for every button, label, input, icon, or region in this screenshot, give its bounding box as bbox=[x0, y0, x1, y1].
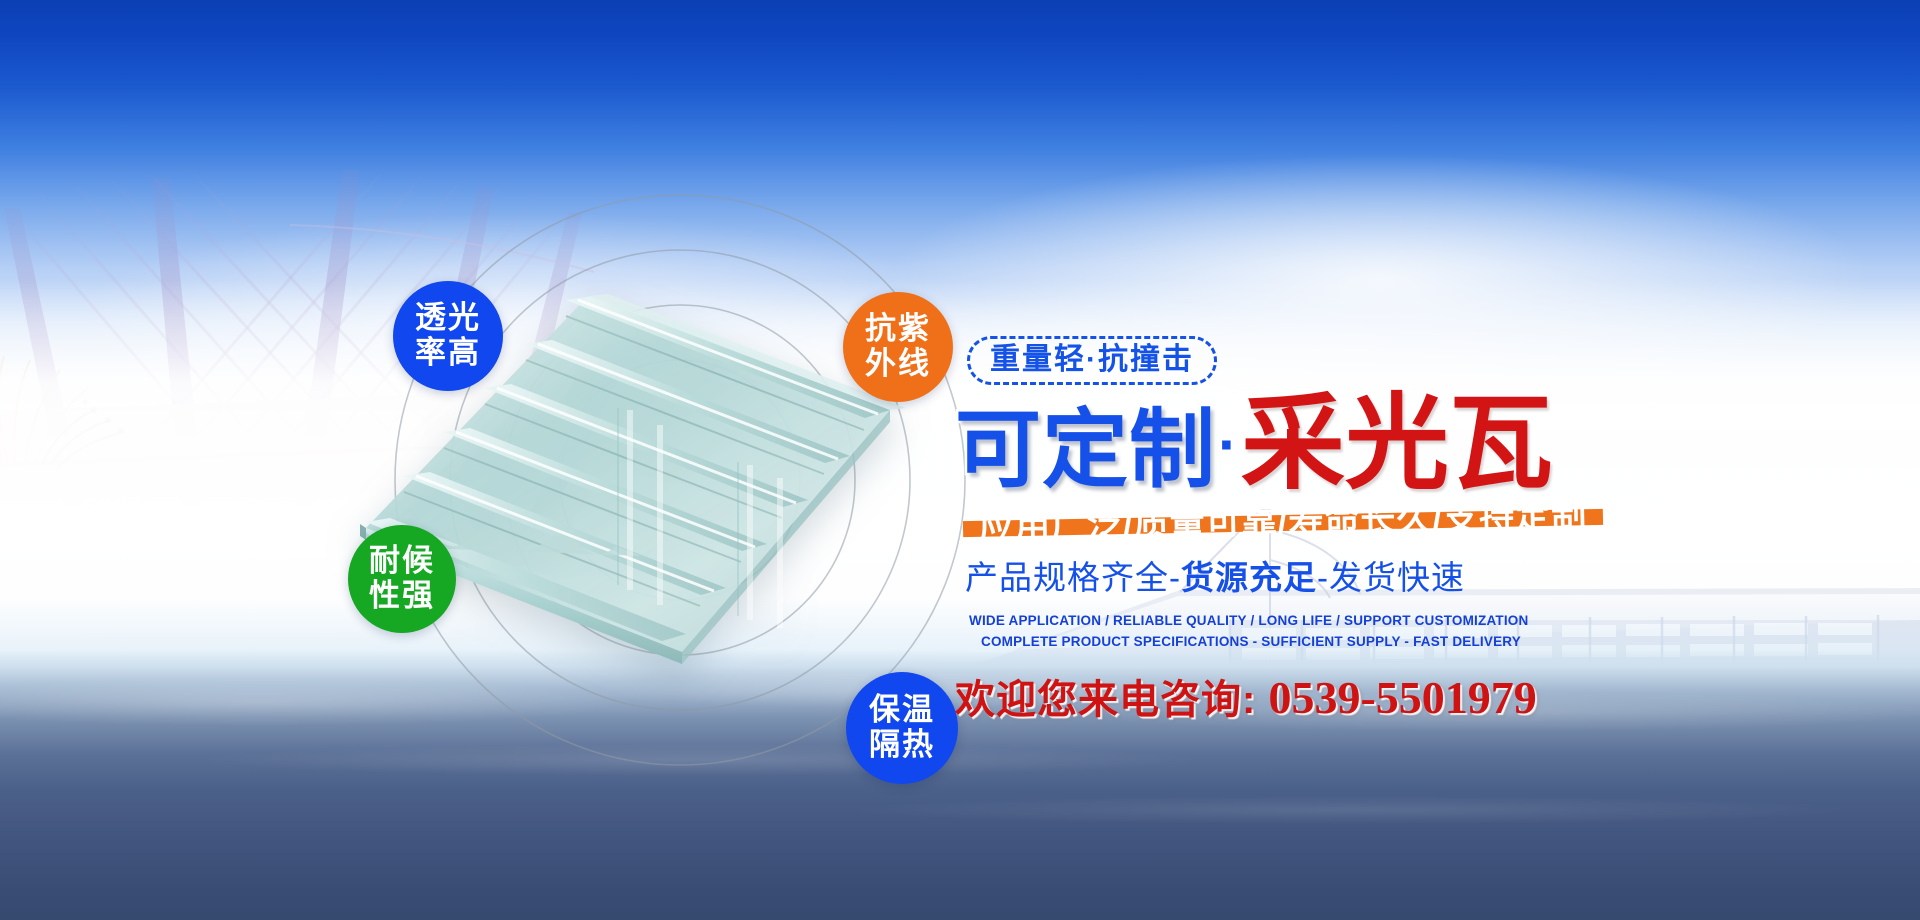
badge-weather-resistant-line2: 性强 bbox=[369, 579, 435, 614]
tagline-pill: 重量轻·抗撞击 bbox=[967, 336, 1217, 385]
feature-bar: 应用广泛/质量可靠/寿命长久/支持定制 bbox=[963, 509, 1603, 537]
page-title: 可定制·采光瓦 bbox=[955, 391, 1615, 499]
supply-subline: 产品规格齐全-货源充足-发货快速 bbox=[965, 551, 1615, 599]
badge-weather-resistant-line1: 耐候 bbox=[369, 544, 435, 579]
headline-separator-dot: · bbox=[1216, 411, 1241, 478]
badge-weather-resistant[interactable]: 耐候 性强 bbox=[348, 525, 456, 633]
badge-thermal-insulation-line2: 隔热 bbox=[869, 728, 935, 763]
badge-light-transmittance-line2: 率高 bbox=[415, 336, 481, 371]
phone-label: 欢迎您来电咨询: bbox=[955, 678, 1256, 722]
badge-thermal-insulation-line1: 保温 bbox=[869, 693, 935, 728]
badge-light-transmittance[interactable]: 透光 率高 bbox=[393, 281, 503, 391]
marketing-copy-block: 重量轻·抗撞击 可定制·采光瓦 应用广泛/质量可靠/寿命长久/支持定制 产品规格… bbox=[955, 336, 1615, 725]
badge-uv-resistant-line2: 外线 bbox=[865, 347, 931, 382]
english-tagline-line2: COMPLETE PRODUCT SPECIFICATIONS - SUFFIC… bbox=[981, 632, 1615, 653]
english-tagline-line1: WIDE APPLICATION / RELIABLE QUALITY / LO… bbox=[969, 611, 1615, 632]
subline-post: -发货快速 bbox=[1317, 559, 1465, 596]
badge-uv-resistant-line1: 抗紫 bbox=[865, 312, 931, 347]
badge-uv-resistant[interactable]: 抗紫 外线 bbox=[843, 292, 953, 402]
phone-number[interactable]: 0539-5501979 bbox=[1268, 672, 1536, 723]
headline-customizable: 可定制 bbox=[955, 402, 1216, 498]
promo-banner: 透光 率高 抗紫 外线 耐候 性强 保温 隔热 重量轻·抗撞击 可定制·采光瓦 … bbox=[0, 0, 1920, 920]
badge-light-transmittance-line1: 透光 bbox=[415, 301, 481, 336]
contact-phone-line[interactable]: 欢迎您来电咨询: 0539-5501979 bbox=[955, 667, 1615, 725]
headline-product-name: 采光瓦 bbox=[1241, 387, 1553, 502]
subline-strong: 货源充足 bbox=[1181, 559, 1317, 596]
badge-thermal-insulation[interactable]: 保温 隔热 bbox=[846, 672, 958, 784]
subline-pre: 产品规格齐全- bbox=[965, 559, 1181, 596]
